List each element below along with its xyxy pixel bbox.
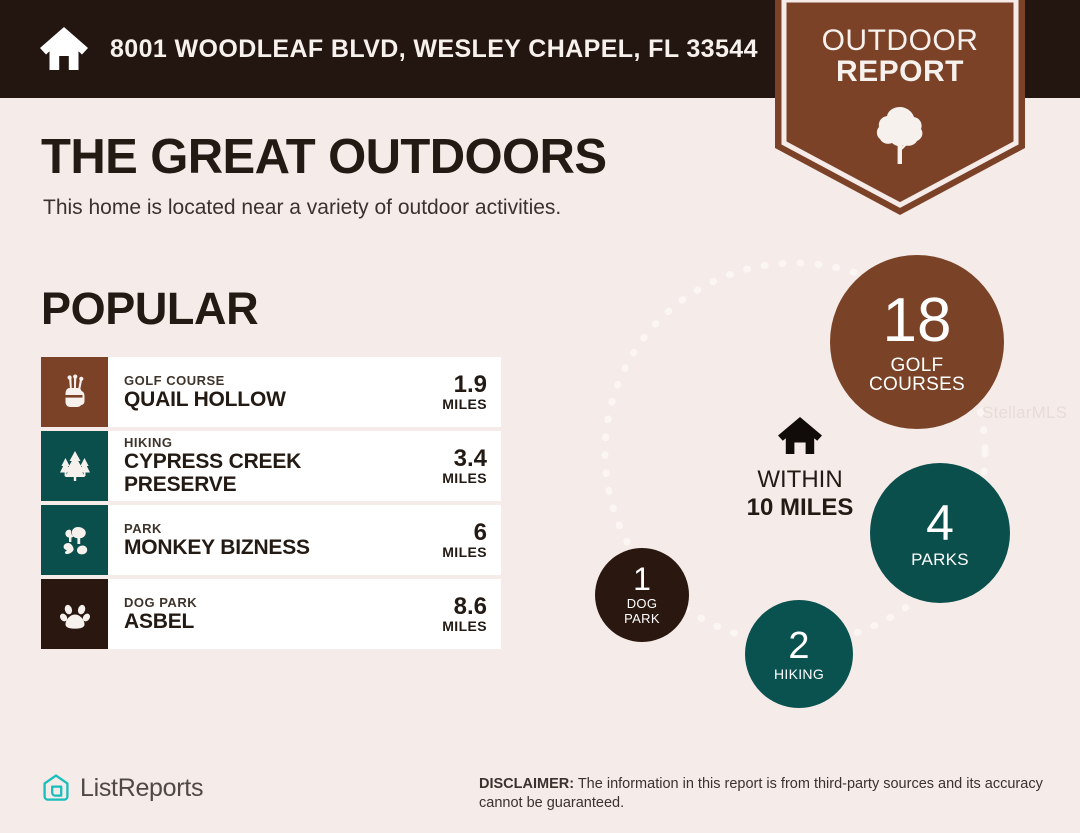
park-tree-path-icon bbox=[56, 521, 94, 559]
listreports-logo-text: ListReports bbox=[80, 774, 203, 803]
center-label-line1: WITHIN bbox=[710, 466, 890, 494]
poi-icon-tile bbox=[41, 505, 108, 575]
badge-title: OUTDOOR REPORT bbox=[775, 26, 1025, 87]
badge-title-line2: REPORT bbox=[775, 57, 1025, 88]
poi-category: HIKING bbox=[124, 435, 391, 451]
disclaimer: DISCLAIMER: The information in this repo… bbox=[479, 775, 1059, 814]
poi-info: PARK MONKEY BIZNESS bbox=[108, 505, 391, 575]
poi-category: PARK bbox=[124, 521, 391, 537]
poi-distance-value: 6 bbox=[391, 520, 487, 545]
bubble-golf-courses[interactable]: 18 GOLF COURSES bbox=[830, 255, 1004, 429]
bubble-parks[interactable]: 4 PARKS bbox=[870, 463, 1010, 603]
home-icon bbox=[38, 23, 90, 75]
stellarmls-watermark: StellarMLS bbox=[982, 403, 1067, 423]
poi-info: HIKING CYPRESS CREEK PRESERVE bbox=[108, 431, 391, 501]
diagram-center-node: WITHIN 10 MILES bbox=[710, 415, 890, 521]
bubble-label-line2: PARK bbox=[624, 612, 660, 627]
poi-name: ASBEL bbox=[124, 611, 391, 634]
poi-icon-tile bbox=[41, 357, 108, 427]
bubble-count: 2 bbox=[788, 627, 809, 665]
popular-list: GOLF COURSE QUAIL HOLLOW 1.9 MILES HIKIN… bbox=[41, 357, 501, 653]
badge-title-line1: OUTDOOR bbox=[775, 26, 1025, 57]
pine-trees-icon bbox=[56, 447, 94, 485]
poi-category: GOLF COURSE bbox=[124, 373, 391, 389]
listreports-logo[interactable]: ListReports bbox=[41, 773, 203, 803]
poi-distance-value: 8.6 bbox=[391, 594, 487, 619]
list-item[interactable]: GOLF COURSE QUAIL HOLLOW 1.9 MILES bbox=[41, 357, 501, 427]
bubble-count: 18 bbox=[883, 290, 952, 352]
poi-distance-unit: MILES bbox=[391, 545, 487, 560]
bubble-label-line1: GOLF bbox=[891, 356, 944, 375]
poi-icon-tile bbox=[41, 579, 108, 649]
disclaimer-label: DISCLAIMER: bbox=[479, 776, 574, 792]
center-label-line2: 10 MILES bbox=[710, 494, 890, 522]
poi-distance-unit: MILES bbox=[391, 471, 487, 486]
poi-distance: 1.9 MILES bbox=[391, 357, 501, 427]
list-item[interactable]: DOG PARK ASBEL 8.6 MILES bbox=[41, 579, 501, 649]
poi-name: QUAIL HOLLOW bbox=[124, 389, 391, 412]
bubble-label-line1: PARKS bbox=[911, 551, 969, 568]
bubble-dog-park[interactable]: 1 DOG PARK bbox=[595, 548, 689, 642]
poi-distance-value: 3.4 bbox=[391, 446, 487, 471]
property-address: 8001 WOODLEAF BLVD, WESLEY CHAPEL, FL 33… bbox=[110, 35, 758, 64]
paw-print-icon bbox=[56, 595, 94, 633]
poi-icon-tile bbox=[41, 431, 108, 501]
listreports-house-icon bbox=[41, 773, 71, 803]
bubble-label-line1: DOG bbox=[627, 597, 658, 612]
popular-heading: POPULAR bbox=[41, 283, 258, 335]
page-title: THE GREAT OUTDOORS bbox=[41, 129, 606, 185]
golf-bag-icon bbox=[56, 373, 94, 411]
page-subtitle: This home is located near a variety of o… bbox=[43, 196, 561, 220]
bubble-count: 1 bbox=[633, 563, 651, 595]
poi-info: DOG PARK ASBEL bbox=[108, 579, 391, 649]
tree-icon bbox=[873, 104, 927, 166]
poi-info: GOLF COURSE QUAIL HOLLOW bbox=[108, 357, 391, 427]
outdoor-amenities-diagram: 18 GOLF COURSES 4 PARKS 2 HIKING 1 DOG P… bbox=[580, 235, 1050, 705]
poi-distance-unit: MILES bbox=[391, 397, 487, 412]
poi-distance: 3.4 MILES bbox=[391, 431, 501, 501]
list-item[interactable]: HIKING CYPRESS CREEK PRESERVE 3.4 MILES bbox=[41, 431, 501, 501]
poi-distance: 8.6 MILES bbox=[391, 579, 501, 649]
bubble-label-line2: COURSES bbox=[869, 375, 965, 394]
bubble-label-line1: HIKING bbox=[774, 667, 824, 681]
poi-distance: 6 MILES bbox=[391, 505, 501, 575]
home-icon bbox=[777, 415, 823, 457]
poi-category: DOG PARK bbox=[124, 595, 391, 611]
poi-distance-value: 1.9 bbox=[391, 372, 487, 397]
list-item[interactable]: PARK MONKEY BIZNESS 6 MILES bbox=[41, 505, 501, 575]
poi-name: MONKEY BIZNESS bbox=[124, 537, 391, 560]
poi-name: CYPRESS CREEK PRESERVE bbox=[124, 451, 391, 496]
bubble-count: 4 bbox=[926, 498, 954, 548]
bubble-hiking[interactable]: 2 HIKING bbox=[745, 600, 853, 708]
outdoor-report-badge: OUTDOOR REPORT bbox=[775, 0, 1025, 215]
poi-distance-unit: MILES bbox=[391, 619, 487, 634]
